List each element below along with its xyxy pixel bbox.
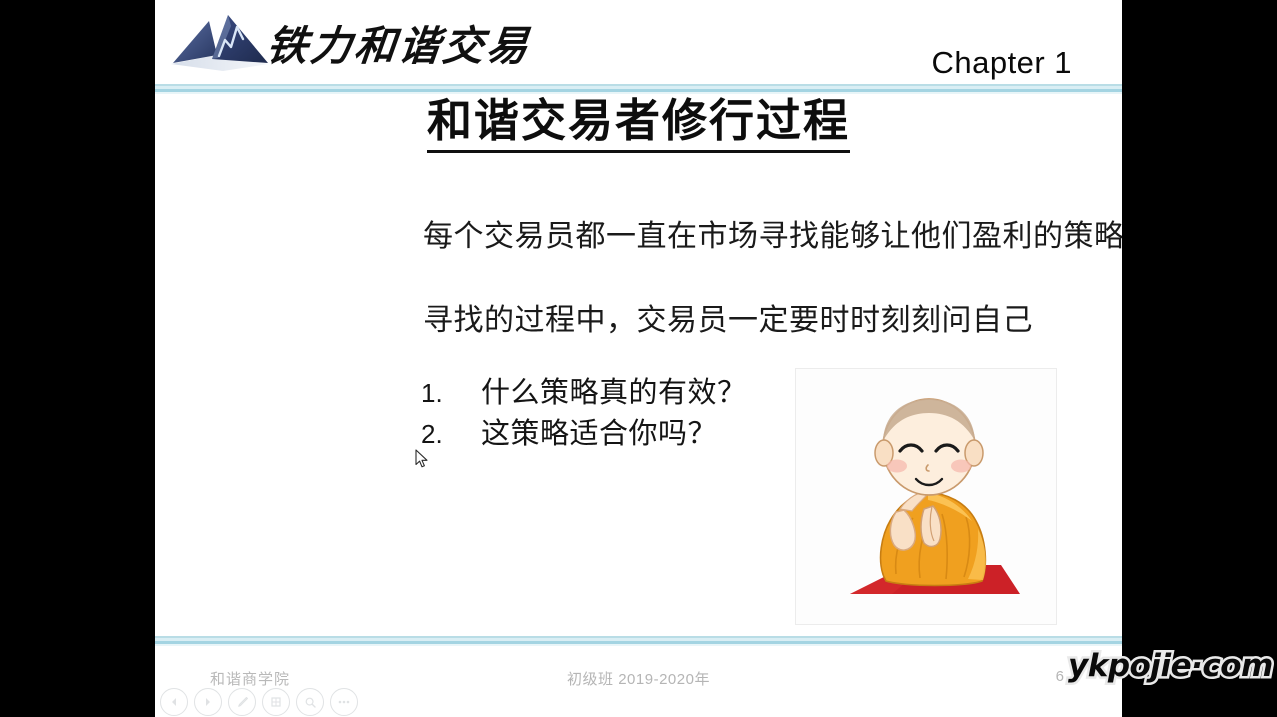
slide-header: 铁力和谐交易 Chapter1 (155, 0, 1122, 86)
list-item-index: 1. (421, 377, 481, 411)
zoom-button[interactable] (296, 688, 324, 716)
grid-icon (270, 696, 282, 708)
next-slide-button[interactable] (194, 688, 222, 716)
presentation-slide[interactable]: 铁力和谐交易 Chapter1 和谐交易者修行过程 每个交易员都一直在市场寻找能… (155, 0, 1122, 717)
list-item-index: 2. (421, 418, 481, 452)
list-item-label: 什么策略真的有效？ (481, 375, 747, 413)
footer-divider (155, 636, 1122, 646)
page-title: 和谐交易者修行过程 (155, 96, 1122, 148)
body-paragraph-2: 寻找的过程中，交易员一定要时时刻刻问自己 (423, 302, 1122, 340)
footer-course-term: 初级班 2019-2020年 (155, 668, 1122, 689)
meditating-monk-illustration (795, 368, 1057, 625)
pen-tool-button[interactable] (228, 688, 256, 716)
brand-name: 铁力和谐交易 (264, 12, 534, 72)
slide-number: 6 (1056, 668, 1064, 685)
header-divider (155, 84, 1122, 94)
mountain-chart-logo (165, 9, 275, 75)
page-title-text: 和谐交易者修行过程 (427, 96, 850, 153)
pen-icon (236, 696, 249, 709)
chapter-label: Chapter1 (931, 45, 1072, 81)
chapter-word: Chapter (931, 45, 1045, 80)
ellipsis-icon (337, 699, 351, 705)
slide-body: 每个交易员都一直在市场寻找能够让他们盈利的策略 寻找的过程中，交易员一定要时时刻… (423, 218, 1122, 339)
chapter-number: 1 (1054, 45, 1072, 80)
previous-slide-button[interactable] (160, 688, 188, 716)
screen-root: 铁力和谐交易 Chapter1 和谐交易者修行过程 每个交易员都一直在市场寻找能… (0, 0, 1277, 717)
body-paragraph-1: 每个交易员都一直在市场寻找能够让他们盈利的策略 (423, 218, 1122, 256)
site-watermark: ykpojie·com (1068, 648, 1273, 684)
more-options-button[interactable] (330, 688, 358, 716)
right-arrow-icon (202, 696, 214, 708)
list-item-label: 这策略适合你吗？ (481, 416, 717, 454)
left-arrow-icon (168, 696, 180, 708)
magnifier-icon (304, 696, 317, 709)
presenter-toolbar[interactable] (160, 688, 358, 716)
all-slides-button[interactable] (262, 688, 290, 716)
